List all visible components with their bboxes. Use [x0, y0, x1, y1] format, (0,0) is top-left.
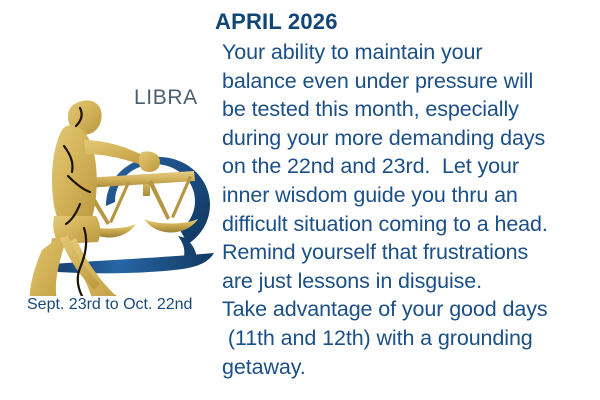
reading-line: Take advantage of your good days [222, 295, 600, 324]
horoscope-text-panel: APRIL 2026 Your ability to maintain your… [212, 0, 600, 400]
reading-line: Your ability to maintain your [222, 38, 600, 67]
reading-line: are just lessons in disguise. [222, 267, 600, 296]
reading-line: Remind yourself that frustrations [222, 238, 600, 267]
reading-line: during your more demanding days [222, 124, 600, 153]
reading-line: getaway. [222, 353, 600, 382]
reading-line: difficult situation coming to a head. [222, 210, 600, 239]
reading-line: be tested this month, especially [222, 95, 600, 124]
reading-line: on the 22nd and 23rd. Let your [222, 152, 600, 181]
reading-line: (11th and 12th) with a grounding [222, 324, 600, 353]
zodiac-date-range: Sept. 23rd to Oct. 22nd [27, 296, 192, 314]
reading-line: inner wisdom guide you thru an [222, 181, 600, 210]
reading-line: balance even under pressure will [222, 67, 600, 96]
zodiac-sign-name: LIBRA [134, 86, 198, 110]
zodiac-illustration-panel: LIBRA Sept. 23rd to Oct. 22nd [0, 0, 230, 400]
libra-artwork [18, 78, 230, 296]
reading-body: Your ability to maintain yourbalance eve… [222, 38, 600, 381]
month-heading: APRIL 2026 [215, 9, 338, 35]
libra-glyph-arc [106, 157, 210, 262]
